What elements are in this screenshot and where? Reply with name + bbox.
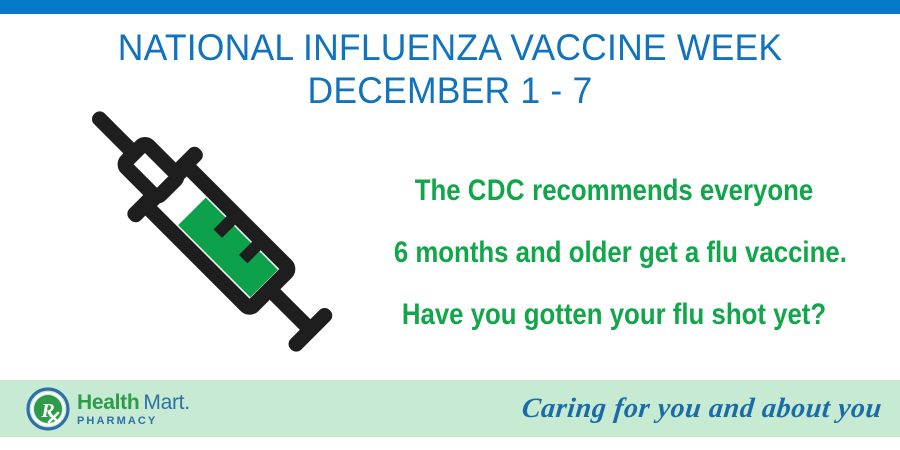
message-line-1-prefix: The: [415, 174, 468, 207]
headline-line-1: NATIONAL INFLUENZA VACCINE WEEK: [18, 26, 882, 69]
top-accent-bar: [0, 0, 900, 14]
brand-logo: R Health Mart. PHARMACY: [26, 386, 190, 432]
message-line-2: 6 months and older get a flu vaccine.: [394, 222, 834, 284]
brand-primary-text: Health: [77, 392, 139, 413]
message-block: The CDC recommends everyone 6 months and…: [394, 160, 834, 346]
syringe-icon: [55, 105, 365, 375]
poster-canvas: NATIONAL INFLUENZA VACCINE WEEK DECEMBER…: [0, 0, 900, 450]
brand-name-row: Health Mart.: [77, 392, 190, 413]
brand-tagline: Caring for you and about you: [520, 388, 884, 430]
message-line-1-emphasis: CDC: [468, 174, 525, 207]
page-title: NATIONAL INFLUENZA VACCINE WEEK DECEMBER…: [18, 26, 882, 112]
brand-wordmark: Health Mart. PHARMACY: [77, 392, 190, 427]
rx-circle-icon: R: [26, 387, 70, 431]
brand-secondary-text: Mart.: [143, 392, 189, 413]
message-line-1: The CDC recommends everyone: [394, 160, 834, 222]
message-line-3: Have you gotten your flu shot yet?: [394, 284, 834, 346]
brand-subtitle-text: PHARMACY: [77, 416, 190, 427]
message-line-1-suffix: recommends everyone: [525, 174, 813, 207]
